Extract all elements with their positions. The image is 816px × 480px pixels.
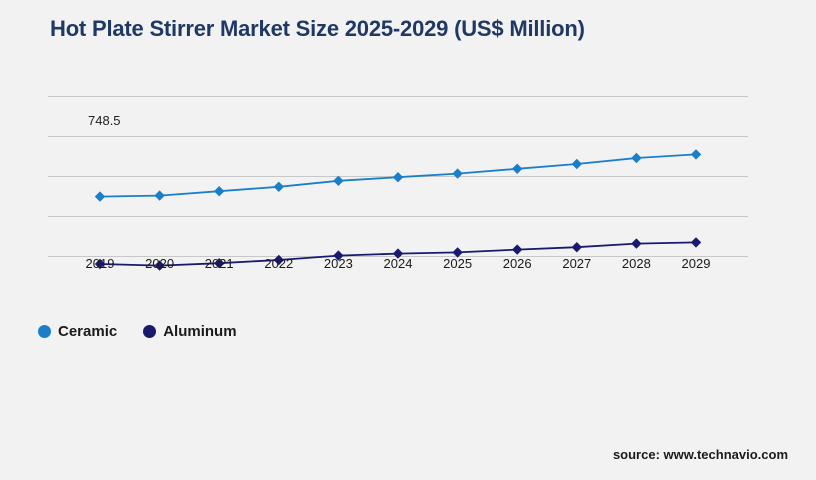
legend-item-ceramic[interactable]: Ceramic <box>38 323 117 340</box>
x-axis-tick-2023: 2023 <box>324 256 353 271</box>
data-point-marker <box>154 190 164 200</box>
chart-container: Hot Plate Stirrer Market Size 2025-2029 … <box>0 0 816 480</box>
data-point-marker <box>452 168 462 178</box>
data-point-marker <box>691 149 701 159</box>
data-point-marker <box>214 186 224 196</box>
x-axis-tick-2028: 2028 <box>622 256 651 271</box>
data-point-marker <box>274 182 284 192</box>
data-point-marker <box>572 159 582 169</box>
legend-label: Ceramic <box>58 323 117 340</box>
x-axis-tick-2019: 2019 <box>86 256 115 271</box>
x-axis-tick-2020: 2020 <box>145 256 174 271</box>
data-point-marker <box>572 242 582 252</box>
x-axis-tick-2024: 2024 <box>384 256 413 271</box>
data-point-marker <box>512 244 522 254</box>
series-lines <box>95 149 701 271</box>
x-axis-tick-2025: 2025 <box>443 256 472 271</box>
x-axis-tick-2026: 2026 <box>503 256 532 271</box>
plot-svg <box>48 96 748 256</box>
x-axis-tick-2021: 2021 <box>205 256 234 271</box>
data-point-marker <box>631 153 641 163</box>
chart-title: Hot Plate Stirrer Market Size 2025-2029 … <box>50 16 585 42</box>
data-point-marker <box>512 164 522 174</box>
data-point-marker <box>333 176 343 186</box>
legend-marker-icon <box>143 325 156 338</box>
x-axis-labels: 2019202020212022202320242025202620272028… <box>48 256 748 280</box>
data-point-marker <box>95 191 105 201</box>
data-label-first-point: 748.5 <box>88 113 121 128</box>
legend-label: Aluminum <box>163 323 236 340</box>
data-point-marker <box>691 237 701 247</box>
x-axis-tick-2029: 2029 <box>682 256 711 271</box>
data-point-marker <box>393 172 403 182</box>
x-axis-tick-2027: 2027 <box>562 256 591 271</box>
legend-marker-icon <box>38 325 51 338</box>
legend-item-aluminum[interactable]: Aluminum <box>143 323 236 340</box>
plot-area <box>48 96 748 256</box>
chart-legend: CeramicAluminum <box>38 323 237 340</box>
source-note: source: www.technavio.com <box>613 447 788 462</box>
x-axis-tick-2022: 2022 <box>264 256 293 271</box>
data-point-marker <box>631 238 641 248</box>
